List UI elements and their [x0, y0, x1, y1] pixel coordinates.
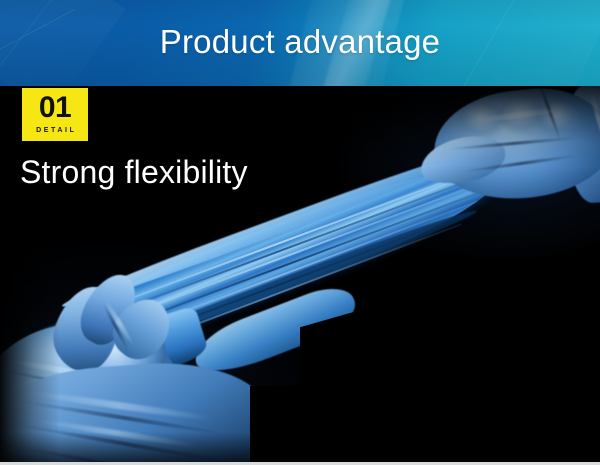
- feature-headline: Strong flexibility: [20, 152, 248, 192]
- badge-subtitle: DETAIL: [34, 126, 77, 135]
- product-advantage-banner: Product advantage: [0, 0, 600, 465]
- badge-number: 01: [39, 91, 71, 125]
- photo-edge-fade-bottom: [0, 432, 600, 462]
- detail-number-badge: 01 DETAIL: [22, 88, 88, 141]
- header-banner: Product advantage: [0, 0, 600, 86]
- page-title: Product advantage: [0, 20, 600, 64]
- product-photo: [0, 86, 600, 462]
